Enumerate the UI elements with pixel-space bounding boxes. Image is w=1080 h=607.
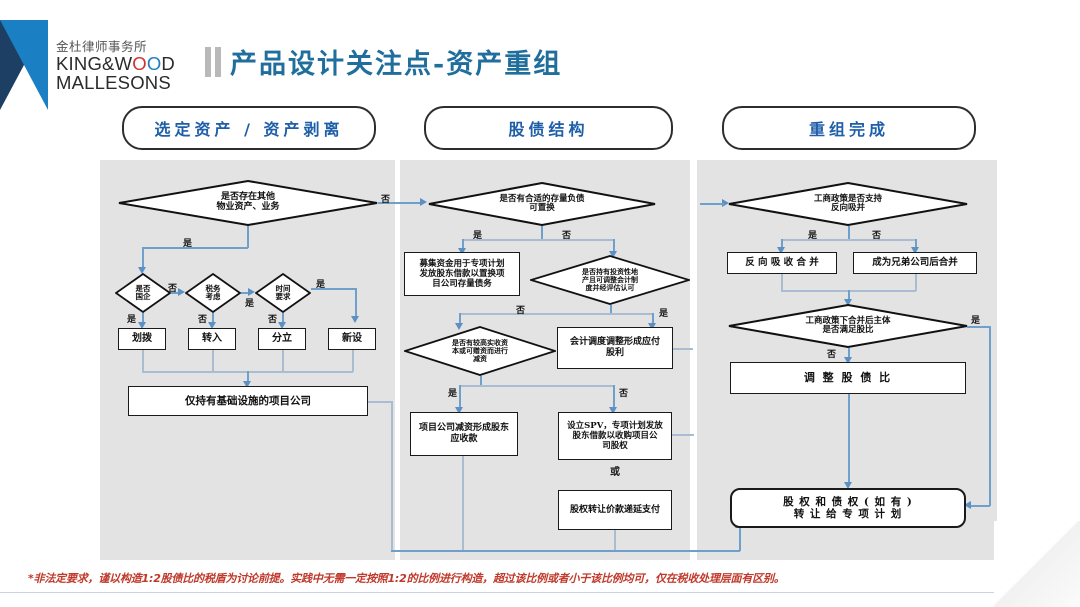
title-bar-1 [205,47,211,77]
decision-other-assets: 是否存在其他物业资产、业务 [118,180,378,226]
slide-canvas: 金杜律师事务所 KING&WOOD MALLESONS 产品设计关注点-资产重组… [0,0,1080,607]
logo-triangle-light [0,20,48,110]
edge-label-high-capital-no: 否 [619,386,628,399]
kwm-logo-mark [0,20,48,110]
decision-policy-support: 工商政策是否支持反向吸并 [728,182,968,226]
kwm-logo-text: 金杜律师事务所 KING&WOOD MALLESONS [56,40,175,93]
phase-tabs: 选定资产 / 资产剥离 股债结构 重组完成 [0,106,1080,150]
conn-sibling-down [915,274,917,291]
conn-bottom-bus [391,550,740,552]
logo-english-line1: KING&WOOD [56,54,175,74]
edge-label-other-assets-yes: 是 [183,236,192,249]
conn-equity-ratio-yes-down [989,326,991,506]
box-raise-funds: 募集资金用于专项计划发放股东借款以置换项目公司存量债务 [404,252,520,296]
edge-label-policy-no: 否 [872,228,881,241]
box-transfer: 划拨 [118,328,166,350]
decision-time: 时间要求 [255,273,311,313]
edge-label-soe-no: 否 [168,281,177,294]
box-spv: 设立SPV，专项计划发放股东借款以收购项目公司股权 [558,412,672,460]
decision-tax-label: 税务考虑 [185,273,241,313]
conn-high-capital-no [613,385,615,409]
box-adjust-ratio: 调 整 股 债 比 [730,362,966,394]
edge-label-soe-yes: 是 [127,312,136,325]
box-move-in: 转入 [188,328,236,350]
decision-existing-debt: 是否有合适的存量负债可置换 [428,182,656,226]
decision-existing-debt-label: 是否有合适的存量负债可置换 [428,182,656,226]
box-accounting-adjust: 会计调度调整形成应付股利 [557,327,673,369]
conn-spv-right [672,434,694,436]
conn-projectco-right [368,401,392,403]
conn-movein-down [212,350,214,372]
decision-policy-support-label: 工商政策是否支持反向吸并 [728,182,968,226]
conn-transfer-down [142,350,144,372]
arrow-c1-to-c2 [420,198,427,206]
decision-investment-property-label: 是否持有投资性地产且可调整会计制度并经评估认可 [530,255,690,305]
page-title-row: 产品设计关注点-资产重组 [205,42,562,81]
box-transfer-to-plan: 股 权 和 债 权 ( 如 有 )转 让 给 专 项 计 划 [730,488,966,528]
logo-text-kingw: KING&W [56,53,132,74]
title-accent-bars [205,47,221,77]
edge-label-existing-debt-no: 否 [562,228,571,241]
edge-label-tax-yes: 是 [245,296,254,309]
box-new: 新设 [328,328,376,350]
edge-label-inv-prop-no: 否 [516,303,525,316]
conn-to-soe [142,247,144,269]
logo-o-blue: O [147,53,162,74]
decision-high-capital-label: 是否有较高实收资本或可赠资而进行减资 [404,326,556,376]
conn-policy-down [848,226,850,240]
conn-time-new-down [355,288,357,318]
corner-fold-decoration [994,521,1080,607]
decision-time-label: 时间要求 [255,273,311,313]
conn-split-down [282,350,284,372]
decision-tax: 税务考虑 [185,273,241,313]
conn-into-policy-support [700,203,724,205]
conn-bottom-up [739,527,741,551]
conn-adjust-ratio-down [848,394,850,484]
conn-policy-split [781,239,916,241]
decision-other-assets-label: 是否存在其他物业资产、业务 [118,180,378,226]
decision-equity-ratio-label: 工商政策下合并后主体是否满足股比 [728,304,968,348]
conn-deferred-down [614,530,616,550]
conn-high-capital-yes [459,385,461,409]
conn-high-capital-split [459,385,614,387]
edge-label-policy-yes: 是 [808,228,817,241]
box-deferred-payment: 股权转让价款递延支付 [558,490,672,530]
conn-projectco-down [391,401,393,551]
box-split: 分立 [258,328,306,350]
decision-high-capital: 是否有较高实收资本或可赠资而进行减资 [404,326,556,376]
box-reverse-merger: 反 向 吸 收 合 并 [727,252,837,274]
conn-equity-ratio-yes-right [967,326,991,328]
edge-label-time-yes: 是 [316,277,325,290]
conn-other-assets-left [142,247,248,249]
edge-label-existing-debt-yes: 是 [473,228,482,241]
decision-investment-property: 是否持有投资性地产且可调整会计制度并经评估认可 [530,255,690,305]
title-bar-2 [215,47,221,77]
decision-soe: 是否国企 [115,273,171,313]
box-project-company: 仅持有基础设施的项目公司 [128,386,368,416]
edge-label-equity-ratio-yes: 是 [971,313,980,326]
edge-label-inv-prop-yes: 是 [659,306,668,319]
arrow-soe-to-tax [178,288,185,296]
conn-existing-debt-down [541,226,543,240]
conn-accounting-right [673,348,693,350]
tab-asset-selection[interactable]: 选定资产 / 资产剥离 [122,106,376,150]
footer-rule [0,592,1010,593]
logo-chinese-name: 金杜律师事务所 [56,40,175,54]
conn-inv-prop-split [459,313,653,315]
conn-equity-ratio-yes-in [970,505,990,507]
arrow-tax-to-time [248,288,255,296]
arrow-to-new [351,316,359,323]
conn-other-assets-down [247,226,249,248]
edge-label-high-capital-yes: 是 [448,386,457,399]
or-label-spv: 或 [610,463,620,478]
logo-text-d: D [161,53,175,74]
conn-existing-debt-split [462,239,614,241]
decision-equity-ratio: 工商政策下合并后主体是否满足股比 [728,304,968,348]
edge-label-c1-no: 否 [381,192,390,205]
conn-reverse-down [781,274,783,291]
logo-o-red: O [132,53,147,74]
decision-soe-label: 是否国企 [115,273,171,313]
tab-restructuring-complete[interactable]: 重组完成 [722,106,976,150]
edge-label-time-no: 否 [268,312,277,325]
page-title: 产品设计关注点-资产重组 [230,42,562,81]
tab-equity-debt-structure[interactable]: 股债结构 [424,106,673,150]
footnote-text: *非法定要求，谨以构造1:2股债比的税盾为讨论前提。实践中无需一定按照1:2的比… [28,570,1018,586]
conn-reduce-capital-down [462,456,464,550]
box-reduce-capital: 项目公司减资形成股东应收款 [410,412,518,456]
logo-english-line2: MALLESONS [56,73,175,93]
box-sibling-merger: 成为兄弟公司后合并 [853,252,977,274]
edge-label-equity-ratio-no: 否 [827,347,836,360]
conn-new-down [352,350,354,372]
edge-label-tax-no: 否 [198,312,207,325]
